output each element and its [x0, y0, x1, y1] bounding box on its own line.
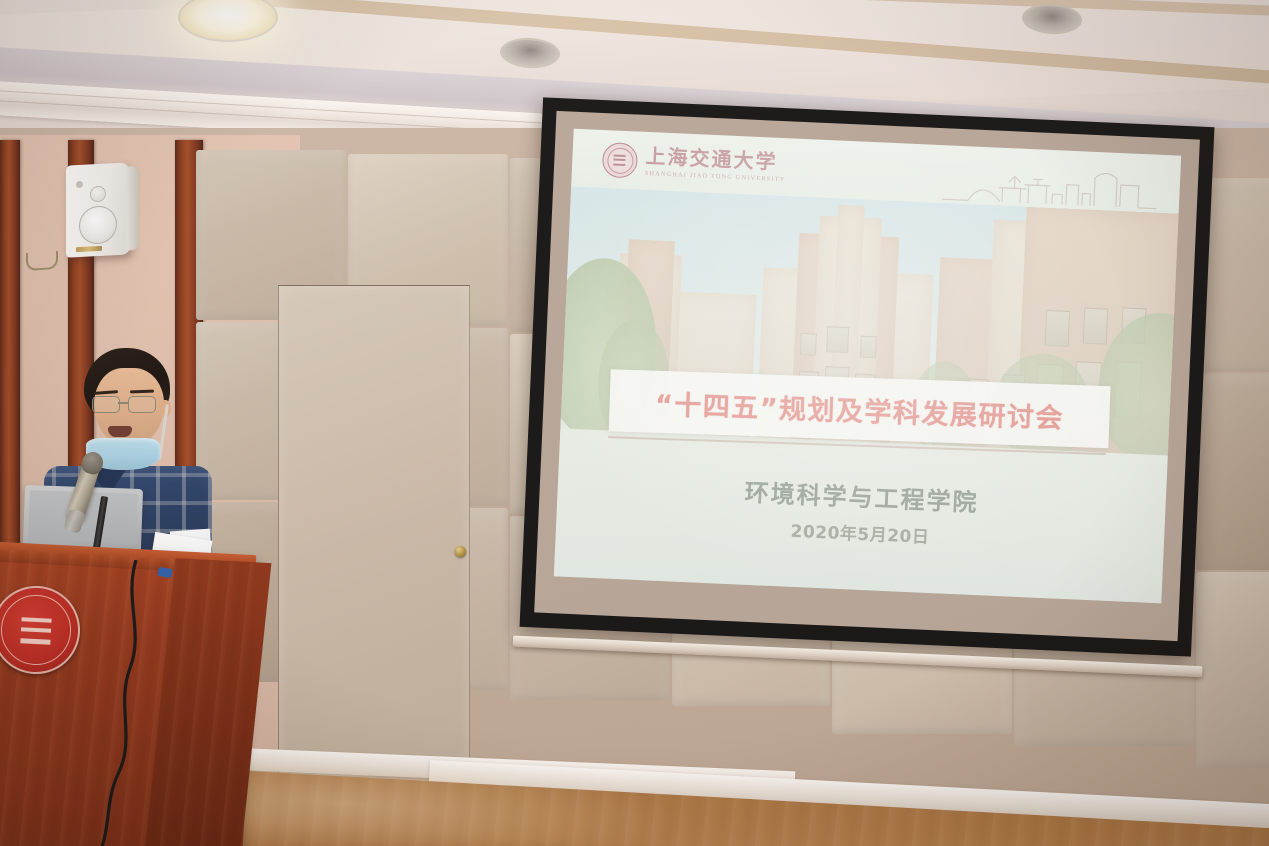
speaker-port-icon — [76, 181, 83, 188]
speaker-tweeter-icon — [90, 186, 106, 203]
presenter-mouth — [108, 426, 132, 437]
institution-name-cn: 上海交通大学 — [645, 146, 786, 172]
door-knob-icon[interactable] — [455, 546, 466, 557]
photo-scene: 上海交通大学 SHANGHAI JIAO TONG UNIVERSITY — [0, 0, 1269, 846]
wall-speaker — [66, 162, 130, 257]
eyeglasses-icon — [90, 396, 166, 411]
projection-screen: 上海交通大学 SHANGHAI JIAO TONG UNIVERSITY — [520, 97, 1215, 656]
speaker-woofer-icon — [79, 205, 117, 245]
projected-slide: 上海交通大学 SHANGHAI JIAO TONG UNIVERSITY — [554, 129, 1181, 604]
audio-cable — [118, 560, 122, 846]
hidden-panel-door[interactable] — [278, 285, 470, 776]
sjtu-seal-icon — [602, 142, 639, 179]
slide-title: “十四五”规划及学科发展研讨会 — [655, 382, 1065, 435]
speaker-brand-plate — [76, 246, 102, 252]
speaker-side-panel — [126, 166, 138, 251]
sjtu-logo: 上海交通大学 SHANGHAI JIAO TONG UNIVERSITY — [602, 142, 787, 185]
